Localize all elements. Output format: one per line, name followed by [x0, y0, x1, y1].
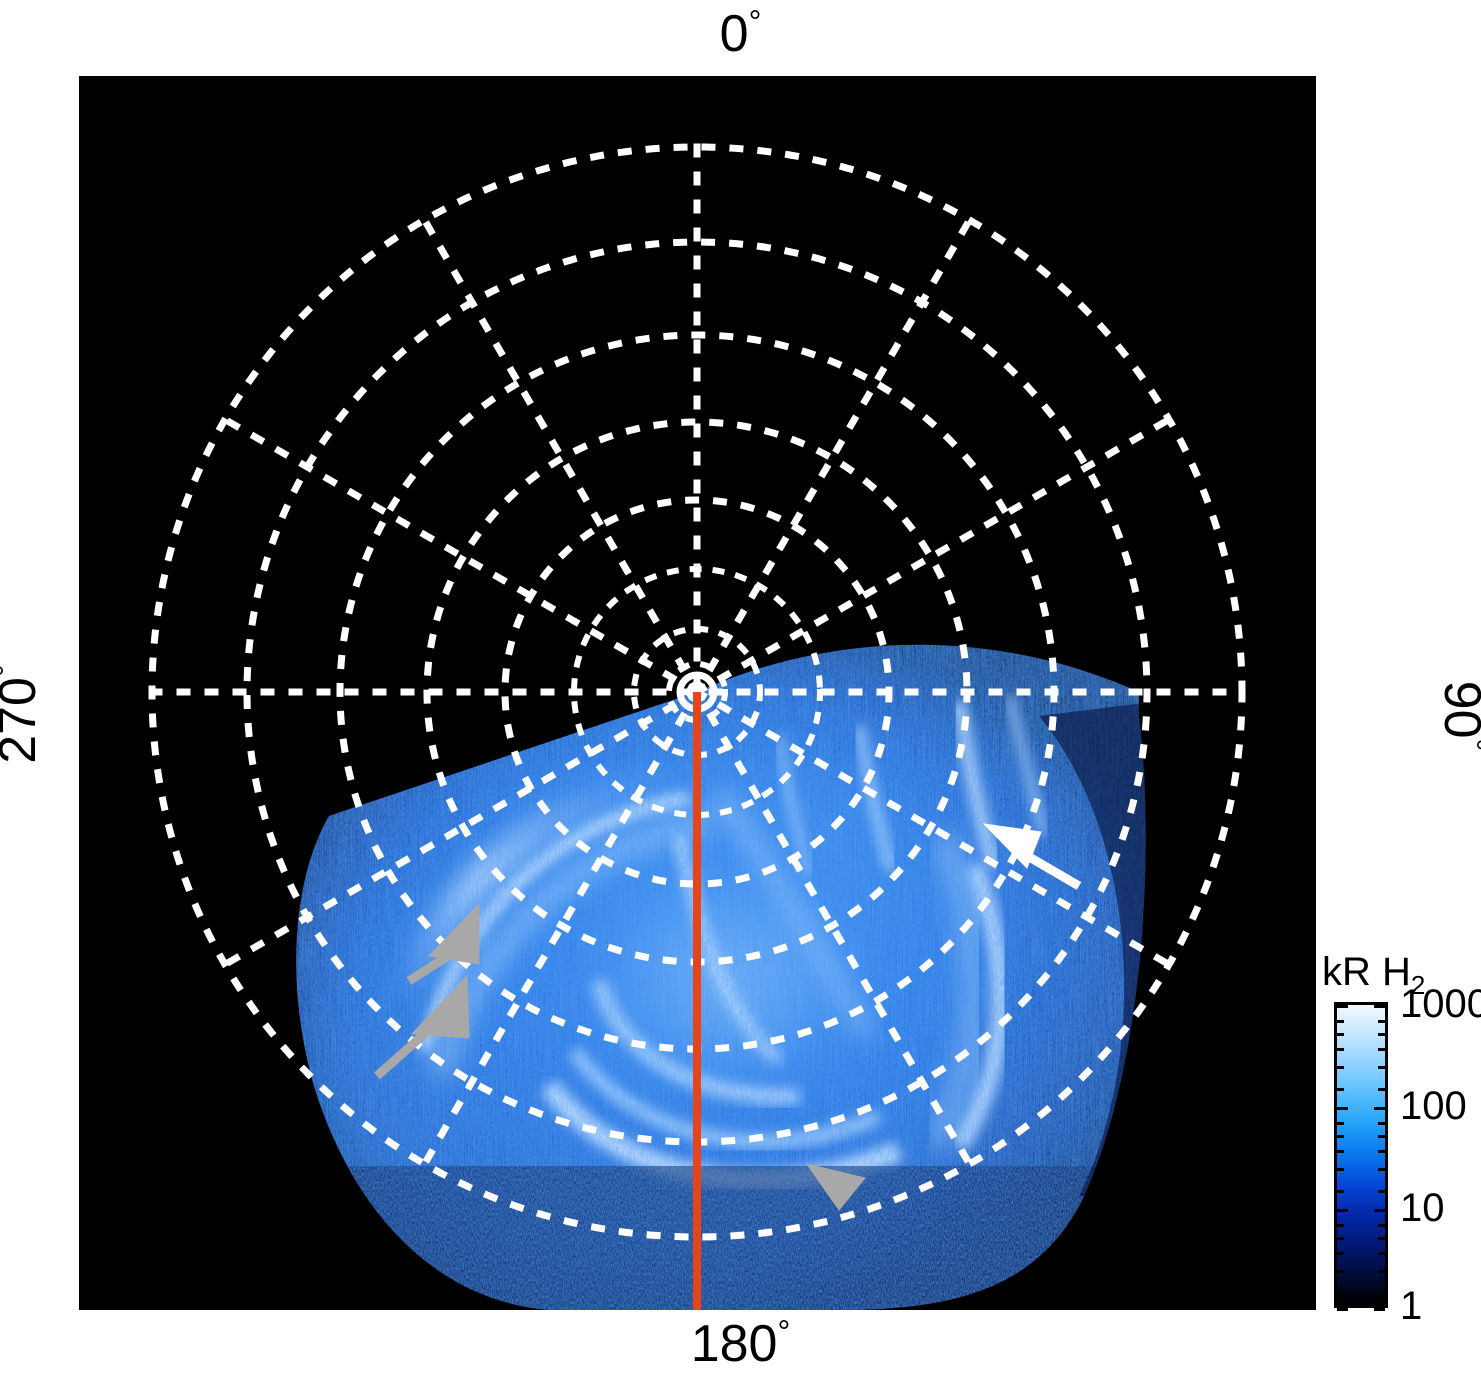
colorbar-minor-tick	[1378, 1088, 1385, 1091]
colorbar-minor-tick	[1337, 1224, 1344, 1227]
colorbar-minor-tick	[1337, 1048, 1344, 1051]
annotation-arrows	[79, 76, 1316, 1310]
colorbar-minor-tick	[1337, 1270, 1344, 1273]
colorbar-minor-tick	[1337, 1122, 1344, 1125]
colorbar-tick-1-left	[1337, 1308, 1348, 1311]
colorbar-minor-tick	[1337, 1168, 1344, 1171]
colorbar-tick-10-left	[1337, 1209, 1348, 1212]
colorbar-title-main: kR H	[1322, 950, 1411, 994]
axis-label-180deg-value: 180	[691, 1315, 778, 1373]
colorbar-minor-tick	[1378, 1048, 1385, 1051]
colorbar-minor-tick	[1337, 1237, 1344, 1240]
colorbar-minor-tick	[1337, 1190, 1344, 1193]
degree-symbol-bottom: °	[777, 1314, 790, 1350]
colorbar-label-100: 100	[1400, 1086, 1467, 1126]
colorbar-tick-1000-left	[1337, 1005, 1348, 1008]
colorbar-minor-tick	[1378, 1292, 1385, 1295]
colorbar-minor-tick	[1378, 1252, 1385, 1255]
colorbar-minor-tick	[1337, 1292, 1344, 1295]
colorbar-label-1: 1	[1400, 1286, 1422, 1326]
axis-label-90deg-value: 90	[1433, 681, 1481, 739]
axis-label-90deg: 90°	[1436, 606, 1481, 826]
figure-root: 0° 180° 270° 90°	[0, 0, 1481, 1386]
white-arrow-right-marker	[984, 824, 1079, 886]
degree-symbol-top: °	[749, 4, 762, 40]
colorbar-tick-100-left	[1337, 1107, 1348, 1110]
degree-symbol-right: °	[1456, 739, 1481, 752]
gray-arrowhead-bottom-marker	[807, 1164, 865, 1210]
colorbar-minor-tick	[1337, 1252, 1344, 1255]
colorbar-minor-tick	[1378, 1190, 1385, 1193]
colorbar-minor-tick	[1337, 1088, 1344, 1091]
colorbar-tick-10-right	[1374, 1209, 1385, 1212]
colorbar-tick-1000-right	[1374, 1005, 1385, 1008]
colorbar-minor-tick	[1378, 1122, 1385, 1125]
gray-arrow-lower-marker	[377, 976, 469, 1076]
colorbar-minor-tick	[1378, 1270, 1385, 1273]
colorbar-gradient[interactable]	[1334, 1002, 1388, 1308]
colorbar-minor-tick	[1378, 1224, 1385, 1227]
colorbar-minor-tick	[1337, 1020, 1344, 1023]
axis-label-270deg: 270°	[0, 604, 44, 824]
axis-label-0deg: 0°	[0, 8, 1481, 60]
colorbar-minor-tick	[1337, 1066, 1344, 1069]
colorbar-minor-tick	[1337, 1033, 1344, 1036]
colorbar-minor-tick	[1337, 1135, 1344, 1138]
colorbar-tick-1-right	[1374, 1308, 1385, 1311]
axis-label-0deg-value: 0	[720, 5, 749, 63]
colorbar-minor-tick	[1378, 1150, 1385, 1153]
degree-symbol-left: °	[0, 664, 24, 677]
colorbar-minor-tick	[1378, 1168, 1385, 1171]
colorbar-minor-tick	[1378, 1237, 1385, 1240]
colorbar-minor-tick	[1337, 1150, 1344, 1153]
axis-label-270deg-value: 270	[0, 677, 47, 764]
colorbar-tick-100-right	[1374, 1107, 1385, 1110]
colorbar-label-1000: 1000	[1400, 984, 1481, 1024]
colorbar-minor-tick	[1378, 1020, 1385, 1023]
colorbar-minor-tick	[1378, 1033, 1385, 1036]
colorbar-minor-tick	[1378, 1066, 1385, 1069]
colorbar-group: kR H2	[1322, 950, 1477, 1322]
polar-plot-panel	[79, 76, 1316, 1310]
colorbar-label-10: 10	[1400, 1188, 1445, 1228]
gray-arrow-upper-marker	[409, 904, 479, 981]
colorbar-minor-tick	[1378, 1135, 1385, 1138]
axis-label-180deg: 180°	[0, 1318, 1481, 1370]
